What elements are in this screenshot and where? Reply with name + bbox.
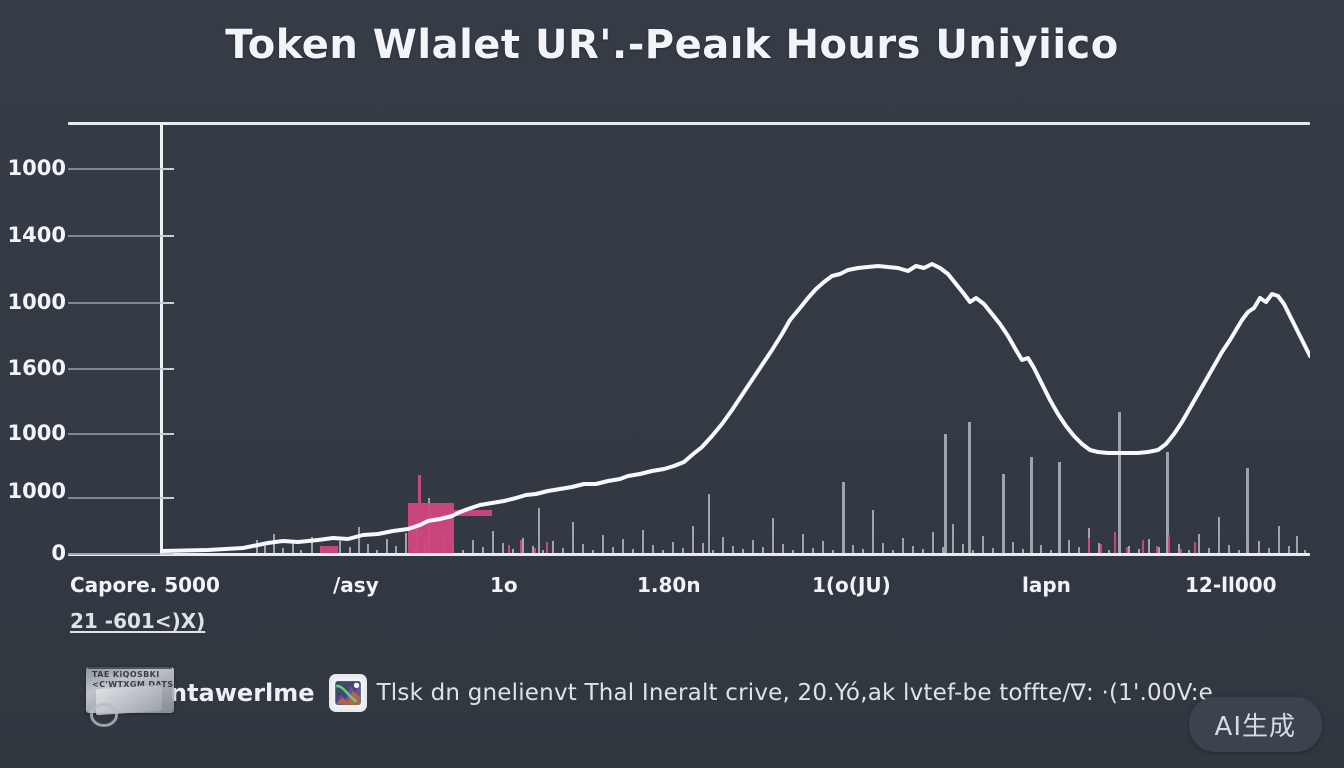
y-axis-label: 1000	[4, 479, 66, 503]
y-axis-label: 1000	[4, 421, 66, 445]
x-axis-label: /asy	[333, 573, 379, 597]
x-axis-label: 1o	[490, 573, 518, 597]
y-axis-label: 1000	[4, 156, 66, 180]
page-title: Token Wlalet UR'.-Peaık Hours Uniyiico	[0, 22, 1344, 68]
y-axis-label: 0	[4, 541, 66, 565]
legend-label: ntawerlme	[170, 679, 315, 707]
volume-bars-highlight	[320, 475, 1196, 553]
series-plot-area	[68, 122, 1310, 556]
caption-text: Tlsk dn gnelienvt Thal Ineralt crive, 20…	[377, 680, 1213, 706]
x-axis-sublabel: 21 -601<)X)	[70, 609, 205, 633]
doc-icon-line1: TAE KiQOSBKI	[92, 670, 173, 680]
x-axis-label: 12-ll000	[1185, 573, 1277, 597]
x-axis-label: Capore. 5000	[70, 573, 220, 597]
x-axis-label: 1.80n	[637, 573, 701, 597]
mini-chart-icon	[329, 674, 367, 712]
y-axis-label: 1000	[4, 290, 66, 314]
chart-canvas: Token Wlalet UR'.-Peaık Hours Uniyiico 1…	[0, 0, 1344, 768]
y-axis-label: 1400	[4, 223, 66, 247]
chart-legend-caption: TAE KiQOSBKI <C'WTXGM DATS ntawerlme Tls…	[80, 663, 1213, 723]
price-line	[162, 264, 1310, 551]
x-axis-label: 1(o(JU)	[812, 573, 891, 597]
x-axis-label: lapn	[1022, 573, 1071, 597]
document-card-icon: TAE KiQOSBKI <C'WTXGM DATS	[80, 663, 180, 723]
y-axis-label: 1600	[4, 356, 66, 380]
ai-generated-badge: AI生成	[1189, 697, 1322, 752]
